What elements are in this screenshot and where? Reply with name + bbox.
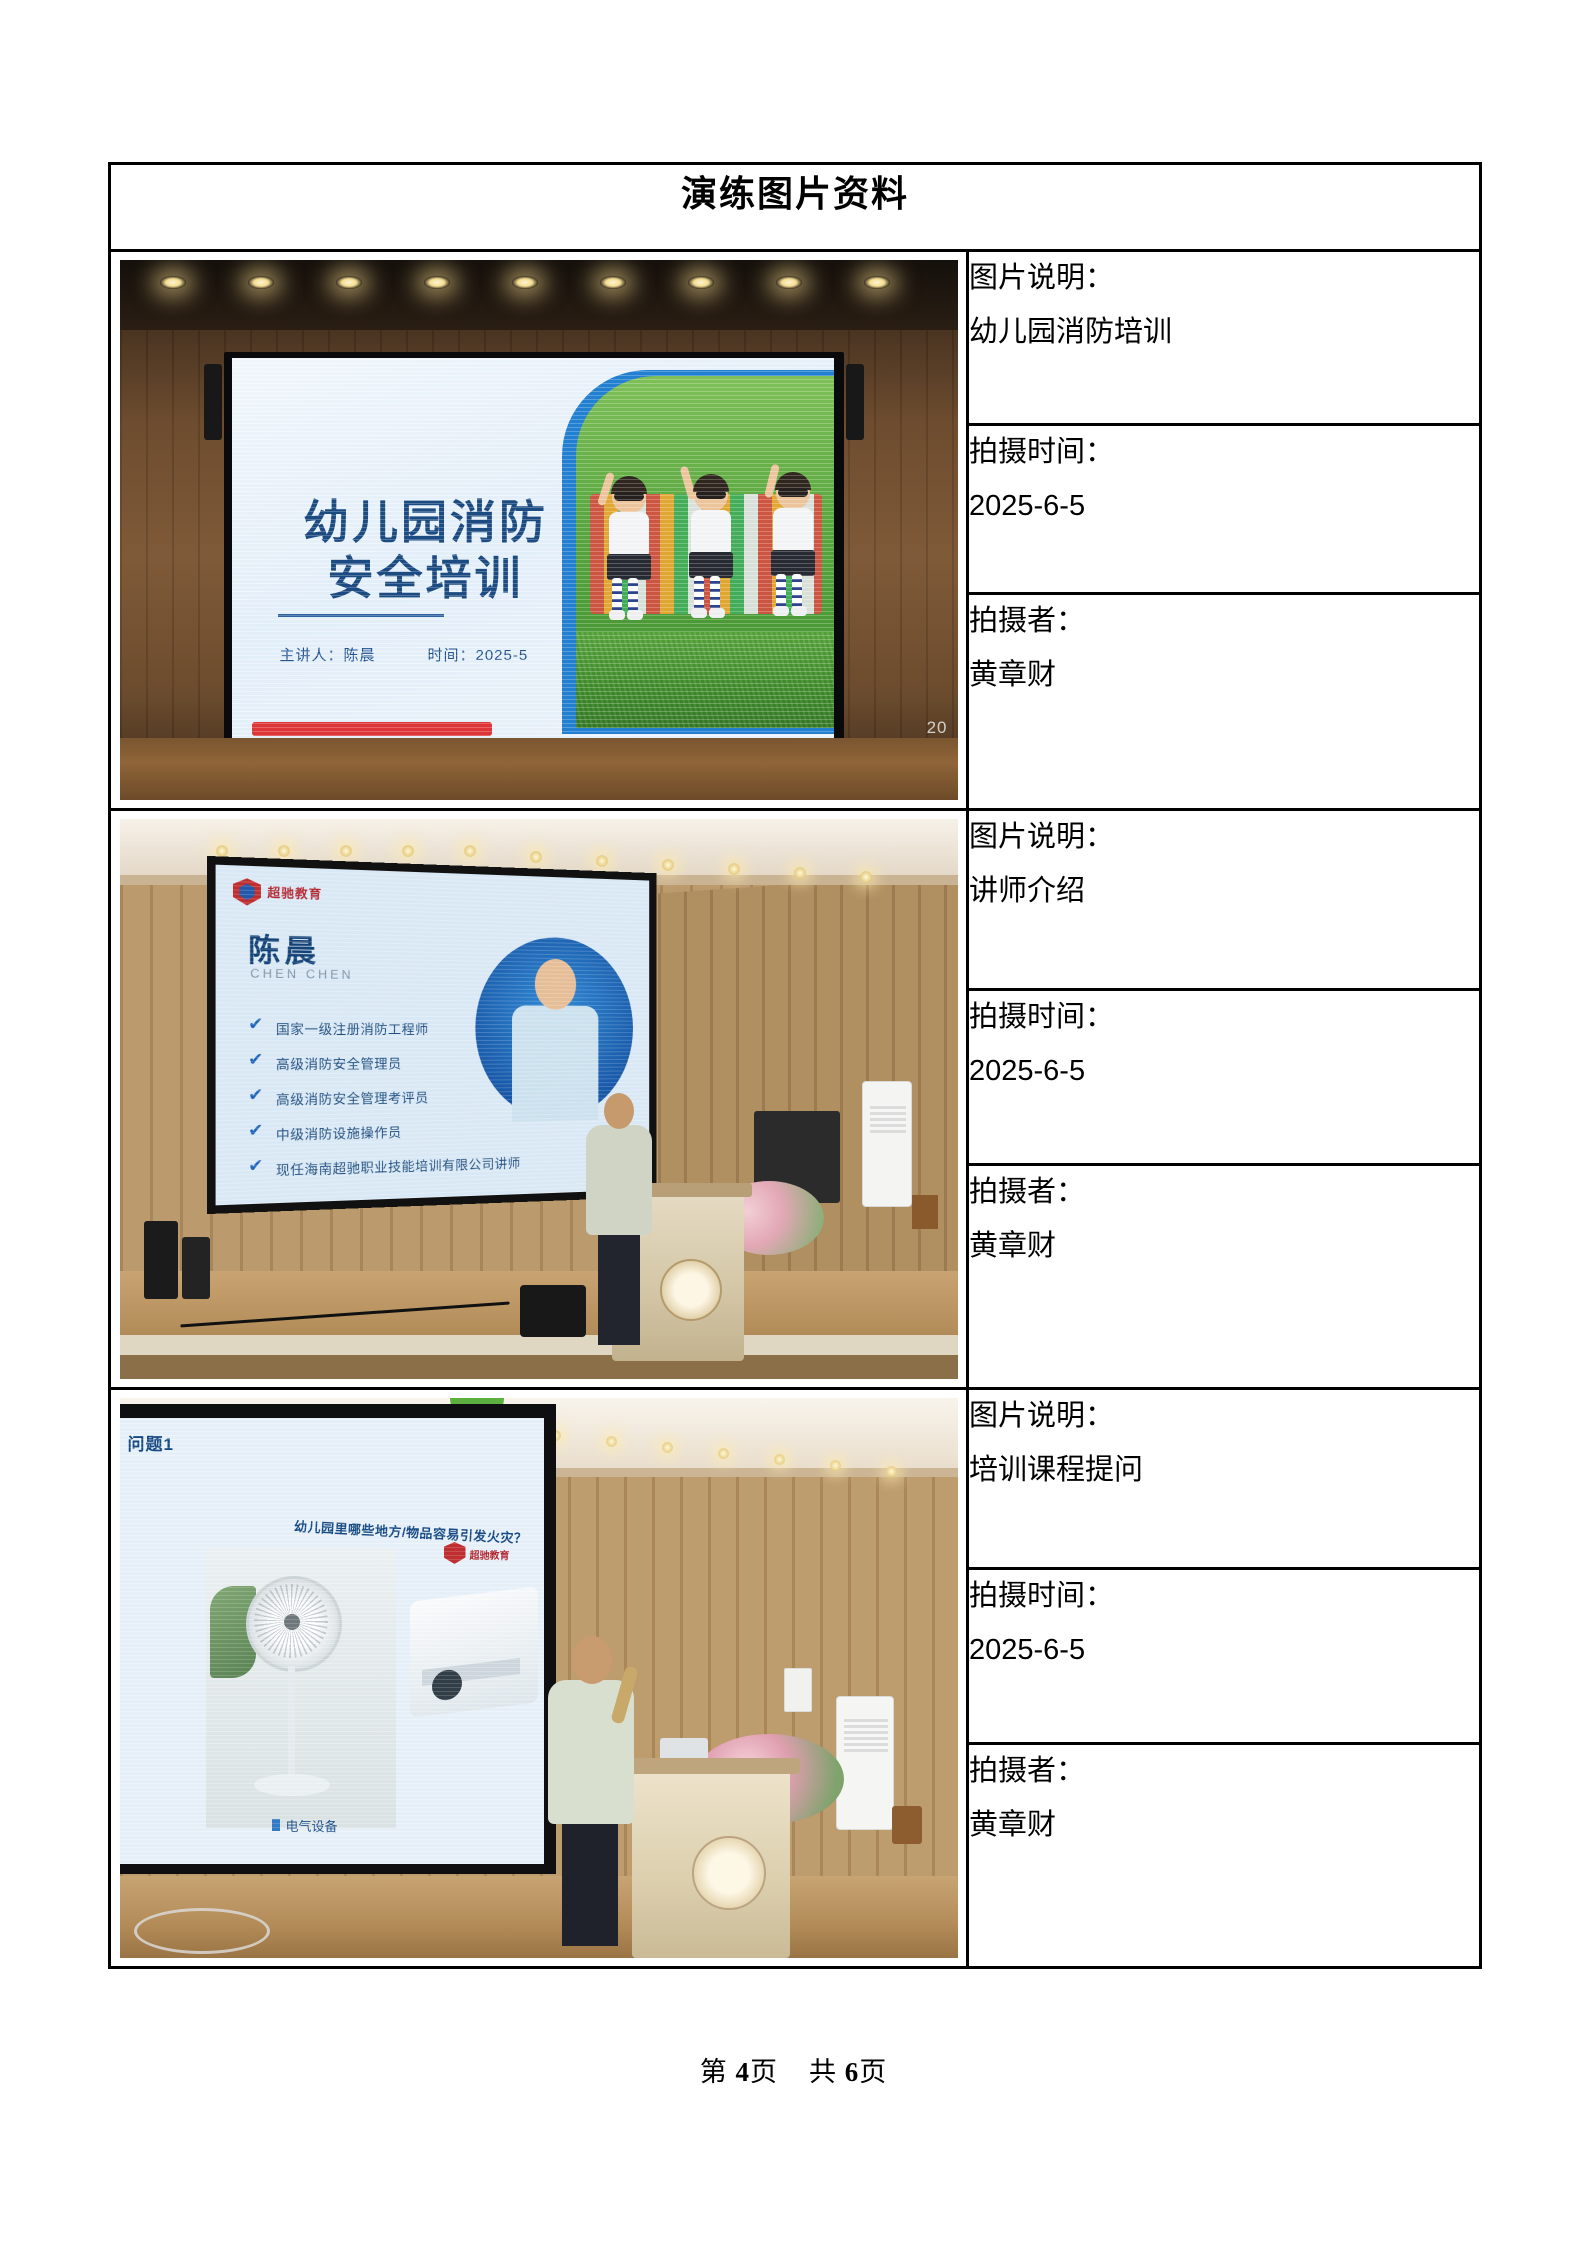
loudspeaker — [182, 1237, 210, 1299]
table-row: 幼儿园消防 安全培训 主讲人：陈晨 时间：2025-5 20 — [110, 251, 1481, 425]
caption-value: 讲师介绍 — [969, 865, 1479, 919]
air-conditioner-vent — [870, 1105, 906, 1133]
evidence-table: 演练图片资料 — [108, 162, 1482, 1969]
loudspeaker — [144, 1221, 178, 1299]
ceiling-lamp-icon — [776, 276, 802, 289]
caption-label: 图片说明： — [969, 811, 1479, 865]
photo-cell-1: 幼儿园消防 安全培训 主讲人：陈晨 时间：2025-5 20 — [110, 251, 968, 810]
ceiling-lamp-icon — [864, 276, 890, 289]
led-screen: 幼儿园消防 安全培训 主讲人：陈晨 时间：2025-5 — [232, 358, 834, 760]
ceiling-lamp-icon — [336, 276, 362, 289]
ceiling-band — [120, 260, 958, 330]
caption-cell-2: 图片说明： 讲师介绍 — [968, 810, 1481, 990]
air-conditioner — [836, 1696, 894, 1830]
caption-cell-1: 图片说明： 幼儿园消防培训 — [968, 251, 1481, 425]
stage-edge — [120, 1335, 958, 1355]
caption-value: 幼儿园消防培训 — [969, 306, 1479, 360]
screen-scanlines — [215, 865, 649, 1206]
footer-middle: 页 — [750, 2057, 778, 2087]
photo-question-slide-presentation: 问题1 幼儿园里哪些地方/物品容易引发火灾？ 超驰教育 — [120, 1398, 958, 1958]
ceiling-lamp-icon — [464, 845, 476, 857]
ceiling-lamp-icon — [160, 276, 186, 289]
photo-timestamp-watermark: 20 — [927, 718, 948, 738]
time-value: 2025-6-5 — [969, 1045, 1479, 1099]
air-conditioner-vent — [844, 1718, 888, 1752]
author-value: 黄章财 — [969, 649, 1479, 703]
ceiling-lamp-icon — [794, 867, 806, 879]
footer-suffix: 页 — [859, 2057, 887, 2087]
ceiling-lamp-icon — [216, 845, 228, 857]
author-cell-3: 拍摄者： 黄章财 — [968, 1744, 1481, 1968]
ceiling-lamp-icon — [662, 1442, 673, 1453]
time-label: 拍摄时间： — [969, 991, 1479, 1045]
caption-cell-3: 图片说明： 培训课程提问 — [968, 1389, 1481, 1569]
ceiling-lamp-icon — [530, 851, 542, 863]
caption-label: 图片说明： — [969, 252, 1479, 306]
floor-cables — [134, 1908, 270, 1954]
ceiling-lamp-icon — [512, 276, 538, 289]
document-page: 演练图片资料 — [0, 0, 1587, 2245]
time-cell-3: 拍摄时间： 2025-6-5 — [968, 1569, 1481, 1744]
author-label: 拍摄者： — [969, 595, 1479, 649]
wall-panel — [784, 1668, 812, 1712]
footer-prefix: 第 — [700, 2057, 728, 2087]
author-label: 拍摄者： — [969, 1166, 1479, 1220]
author-label: 拍摄者： — [969, 1745, 1479, 1799]
time-cell-2: 拍摄时间： 2025-6-5 — [968, 990, 1481, 1165]
ceiling-lamp-icon — [402, 845, 414, 857]
speaker-legs — [598, 1233, 640, 1345]
floor — [120, 738, 958, 800]
speaker-legs — [562, 1822, 618, 1946]
ceiling-lamp-icon — [688, 276, 714, 289]
table-row: 问题1 幼儿园里哪些地方/物品容易引发火灾？ 超驰教育 — [110, 1389, 1481, 1569]
caption-label: 图片说明： — [969, 1390, 1479, 1444]
photo-cell-3: 问题1 幼儿园里哪些地方/物品容易引发火灾？ 超驰教育 — [110, 1389, 968, 1968]
led-screen: 问题1 幼儿园里哪些地方/物品容易引发火灾？ 超驰教育 — [120, 1418, 544, 1864]
ceiling-lamp-icon — [600, 276, 626, 289]
floor — [120, 1355, 958, 1379]
chair — [912, 1195, 938, 1229]
ceiling-lamp-icon — [340, 845, 352, 857]
air-conditioner — [862, 1081, 912, 1207]
photo-auditorium-title-slide: 幼儿园消防 安全培训 主讲人：陈晨 时间：2025-5 20 — [120, 260, 958, 800]
podium-top — [624, 1758, 800, 1774]
ceiling-lamp-icon — [718, 1448, 729, 1459]
table-row: 超驰教育 陈晨 CHEN CHEN ✔ 国家一级注册消防工程师 ✔ 高级消防安全… — [110, 810, 1481, 990]
author-cell-2: 拍摄者： 黄章财 — [968, 1165, 1481, 1389]
stage-monitor — [520, 1285, 586, 1337]
screen-scanlines — [120, 1418, 544, 1864]
led-screen-frame: 问题1 幼儿园里哪些地方/物品容易引发火灾？ 超驰教育 — [120, 1404, 556, 1874]
ceiling-lamp-icon — [774, 1454, 785, 1465]
kindergarten-seal — [660, 1259, 722, 1321]
speaker-head — [604, 1093, 634, 1129]
ceiling-lamp-icon — [728, 863, 740, 875]
time-label: 拍摄时间： — [969, 426, 1479, 480]
footer-total-pages: 6 — [845, 2057, 860, 2087]
time-value: 2025-6-5 — [969, 1624, 1479, 1678]
wall-speaker — [204, 364, 222, 440]
footer-current-page: 4 — [736, 2057, 751, 2087]
author-value: 黄章财 — [969, 1799, 1479, 1853]
ceiling-lamp-icon — [248, 276, 274, 289]
photo-speaker-profile-slide: 超驰教育 陈晨 CHEN CHEN ✔ 国家一级注册消防工程师 ✔ 高级消防安全… — [120, 819, 958, 1379]
ceiling-lamp-icon — [860, 871, 872, 883]
author-cell-1: 拍摄者： 黄章财 — [968, 593, 1481, 809]
speaker-head — [572, 1636, 612, 1684]
ceiling-lamp-icon — [886, 1466, 897, 1477]
table-title-row: 演练图片资料 — [110, 164, 1481, 251]
time-label: 拍摄时间： — [969, 1570, 1479, 1624]
chair — [892, 1806, 922, 1844]
ceiling-lamp-icon — [424, 276, 450, 289]
footer-total-prefix: 共 — [809, 2057, 837, 2087]
ceiling-lamp-icon — [596, 855, 608, 867]
screen-scanlines — [232, 358, 834, 760]
ceiling-lamp-icon — [830, 1460, 841, 1471]
page-title: 演练图片资料 — [110, 164, 1481, 251]
page-footer: 第 4页 共 6页 — [0, 2050, 1587, 2089]
led-screen: 超驰教育 陈晨 CHEN CHEN ✔ 国家一级注册消防工程师 ✔ 高级消防安全… — [215, 865, 649, 1206]
kindergarten-seal — [692, 1836, 766, 1910]
author-value: 黄章财 — [969, 1220, 1479, 1274]
ceiling-lamp-icon — [606, 1436, 617, 1447]
speaker-body — [586, 1125, 652, 1235]
time-value: 2025-6-5 — [969, 480, 1479, 534]
ceiling-lamp-icon — [662, 859, 674, 871]
wall-speaker — [846, 364, 864, 440]
ceiling-lamp-icon — [278, 845, 290, 857]
caption-value: 培训课程提问 — [969, 1444, 1479, 1498]
photo-cell-2: 超驰教育 陈晨 CHEN CHEN ✔ 国家一级注册消防工程师 ✔ 高级消防安全… — [110, 810, 968, 1389]
time-cell-1: 拍摄时间： 2025-6-5 — [968, 425, 1481, 594]
